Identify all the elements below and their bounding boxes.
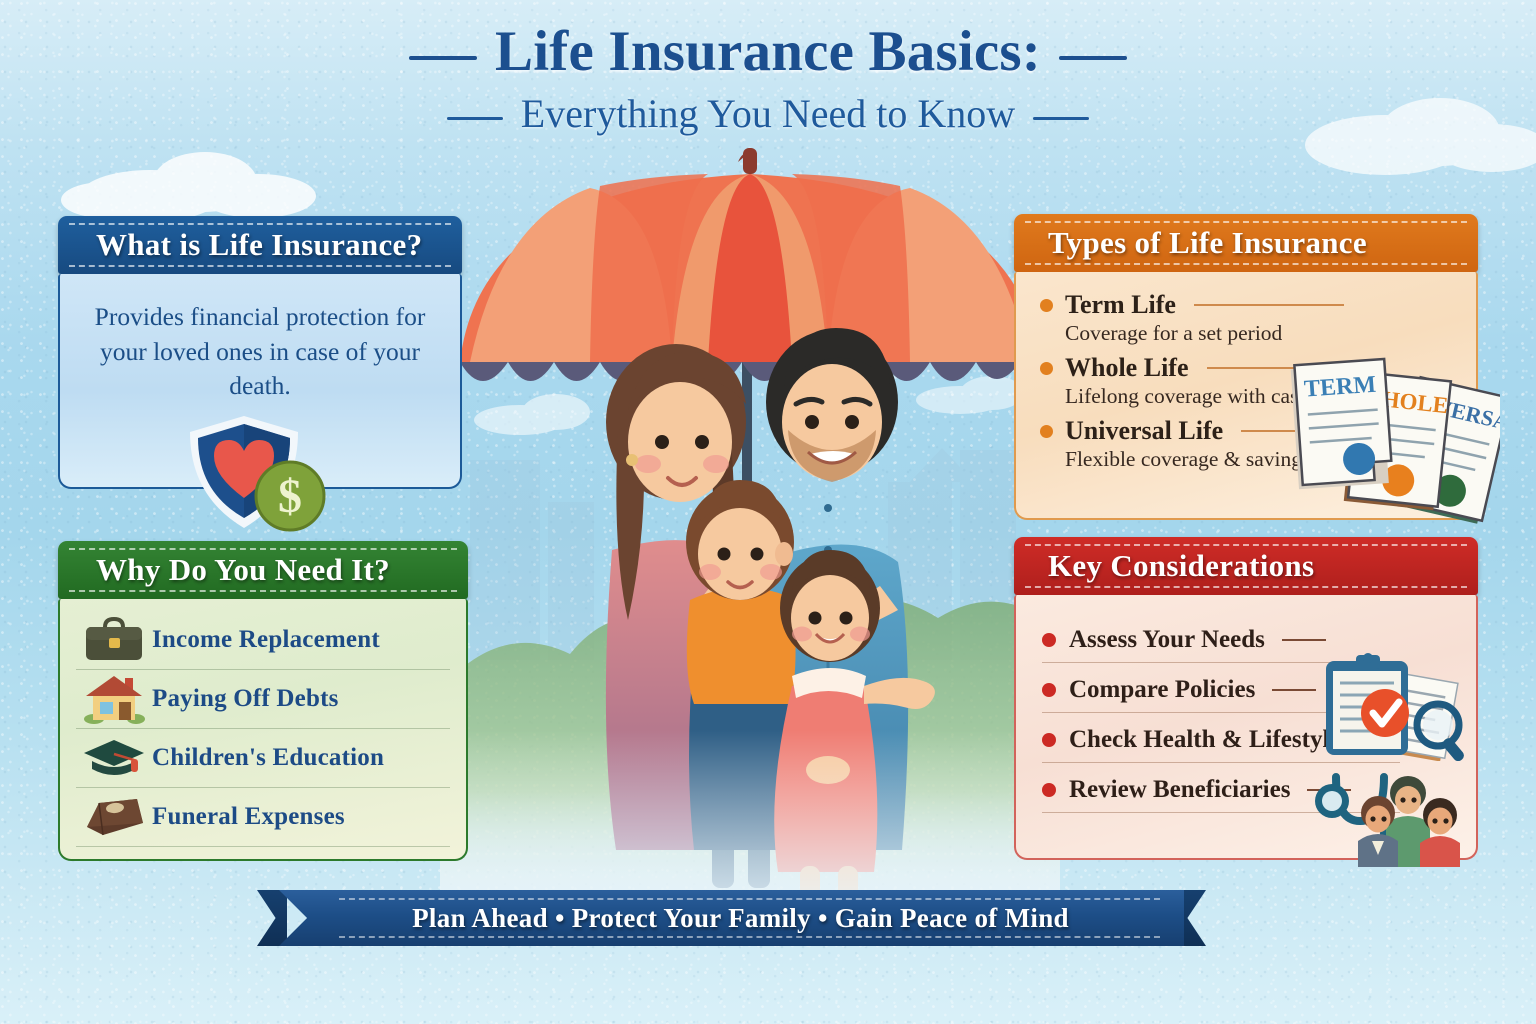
svg-text:$: $ xyxy=(278,470,302,523)
list-item-label: Funeral Expenses xyxy=(152,803,345,831)
rule-line xyxy=(1194,304,1344,306)
list-item-label: Children's Education xyxy=(152,744,384,772)
bullet-dot-icon xyxy=(1040,362,1053,375)
list-item-label: Review Beneficiaries xyxy=(1069,776,1290,804)
card-what-heading: What is Life Insurance? xyxy=(58,216,462,274)
list-item-label: Assess Your Needs xyxy=(1069,626,1265,654)
type-description: Coverage for a set period xyxy=(1065,321,1458,346)
house-icon xyxy=(76,674,152,724)
card-key-body: Assess Your Needs Compare Policies Check… xyxy=(1014,595,1478,860)
banner-text: Plan Ahead • Protect Your Family • Gain … xyxy=(279,890,1184,946)
card-types-body: Term Life Coverage for a set period Whol… xyxy=(1014,272,1478,520)
list-item[interactable]: Paying Off Debts xyxy=(76,670,450,729)
list-item-label: Income Replacement xyxy=(152,626,380,654)
card-types-heading: Types of Life Insurance xyxy=(1014,214,1478,272)
page-title: Life Insurance Basics: xyxy=(495,22,1041,82)
list-item[interactable]: Children's Education xyxy=(76,729,450,788)
briefcase-icon xyxy=(76,617,152,663)
card-why-body: Income Replacement Paying Off Debts xyxy=(58,599,468,861)
bullet-dot-icon xyxy=(1042,633,1056,647)
policy-documents-icon: UNIVERSAL WHOLE xyxy=(1284,344,1500,534)
list-item[interactable]: Income Replacement xyxy=(76,611,450,670)
rule-line xyxy=(1272,689,1316,691)
page-title-block: Life Insurance Basics: Everything You Ne… xyxy=(0,22,1536,137)
card-key-considerations: Key Considerations Assess Your Needs Com… xyxy=(1014,537,1478,860)
shield-heart-dollar-icon: $ xyxy=(186,410,338,536)
bullet-dot-icon xyxy=(1042,733,1056,747)
bottom-banner: Plan Ahead • Protect Your Family • Gain … xyxy=(279,890,1184,946)
list-item-label: Compare Policies xyxy=(1069,676,1255,704)
bullet-dot-icon xyxy=(1042,783,1056,797)
list-item[interactable]: Term Life Coverage for a set period xyxy=(1040,290,1458,346)
card-why-do-you-need-it: Why Do You Need It? Income Replacement xyxy=(58,541,468,861)
doc-label-term: TERM xyxy=(1303,372,1377,403)
list-item-label: Paying Off Debts xyxy=(152,685,339,713)
family-under-umbrella-illustration xyxy=(440,130,1060,920)
card-types-of-life-insurance: Types of Life Insurance Term Life Covera… xyxy=(1014,214,1478,520)
graduation-cap-icon xyxy=(76,735,152,781)
type-name: Whole Life xyxy=(1065,353,1189,383)
type-name: Universal Life xyxy=(1065,416,1223,446)
bullet-dot-icon xyxy=(1040,425,1053,438)
bullet-dot-icon xyxy=(1040,299,1053,312)
type-name: Term Life xyxy=(1065,290,1176,320)
list-item-label: Check Health & Lifestyle xyxy=(1069,726,1340,754)
rule-line xyxy=(1282,639,1326,641)
card-what-is-life-insurance: What is Life Insurance? Provides financi… xyxy=(58,216,462,489)
card-what-body: Provides financial protection for your l… xyxy=(58,274,462,489)
page-subtitle: Everything You Need to Know xyxy=(521,90,1015,137)
card-key-heading: Key Considerations xyxy=(1014,537,1478,595)
card-what-text: Provides financial protection for your l… xyxy=(60,274,460,404)
coffin-icon xyxy=(76,795,152,839)
umbrella xyxy=(460,148,1040,381)
list-item[interactable]: Funeral Expenses xyxy=(76,788,450,847)
card-why-heading: Why Do You Need It? xyxy=(58,541,468,599)
stethoscope-family-icon xyxy=(1312,767,1477,867)
bullet-dot-icon xyxy=(1042,683,1056,697)
clipboard-check-magnifier-icon xyxy=(1312,653,1477,761)
